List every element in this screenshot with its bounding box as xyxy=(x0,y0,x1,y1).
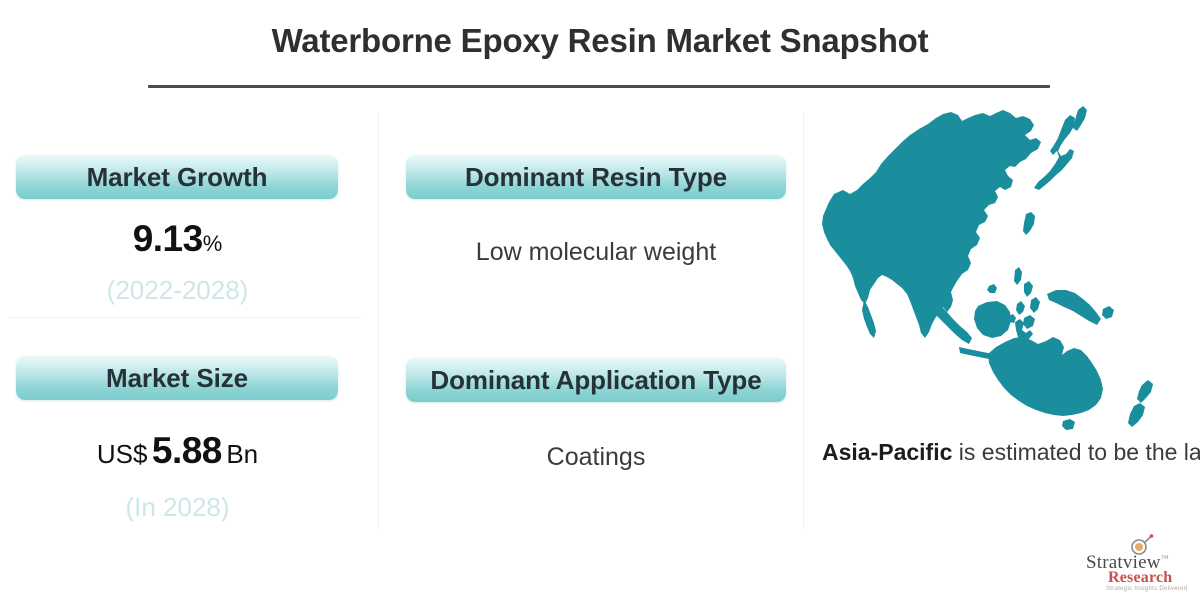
badge-dominant-resin-type: Dominant Resin Type xyxy=(406,155,786,199)
horizontal-divider-left-column xyxy=(8,317,363,318)
badge-market-size: Market Size xyxy=(16,356,338,400)
infographic-root: Waterborne Epoxy Resin Market Snapshot M… xyxy=(0,0,1200,600)
market-size-value: US$ 5.88 Bn xyxy=(0,430,355,472)
stratview-research-logo: Stratview™ Research Strategic Insights D… xyxy=(1086,536,1198,594)
title-underline-rule xyxy=(148,85,1050,88)
currency-prefix: US$ xyxy=(97,439,148,469)
market-growth-period: (2022-2028) xyxy=(0,275,355,306)
page-title-block: Waterborne Epoxy Resin Market Snapshot xyxy=(0,22,1200,60)
badge-market-growth: Market Growth xyxy=(16,155,338,199)
market-growth-value: 9.13% xyxy=(0,218,355,260)
badge-dominant-application-type: Dominant Application Type xyxy=(406,358,786,402)
badge-dominant-application-type-label: Dominant Application Type xyxy=(430,365,761,396)
region-note-text: is estimated to be the largest market du… xyxy=(952,439,1200,465)
page-title: Waterborne Epoxy Resin Market Snapshot xyxy=(0,22,1200,60)
logo-tagline: Strategic Insights Delivered xyxy=(1106,586,1200,592)
vertical-divider-right xyxy=(803,112,804,530)
market-size-unit: Bn xyxy=(226,439,258,469)
logo-wordmark-secondary: Research xyxy=(1108,569,1200,587)
badge-dominant-resin-type-label: Dominant Resin Type xyxy=(465,162,727,193)
asia-pacific-map-icon xyxy=(812,104,1200,434)
badge-market-size-label: Market Size xyxy=(106,363,248,394)
market-size-period: (In 2028) xyxy=(0,492,355,523)
region-note: Asia-Pacific is estimated to be the larg… xyxy=(822,437,1200,467)
percent-symbol: % xyxy=(203,231,223,256)
region-note-region: Asia-Pacific xyxy=(822,439,952,465)
dominant-resin-type-value: Low molecular weight xyxy=(390,238,802,267)
badge-market-growth-label: Market Growth xyxy=(87,162,268,193)
market-growth-number: 9.13 xyxy=(133,218,203,259)
vertical-divider-left xyxy=(378,112,379,530)
dominant-application-type-value: Coatings xyxy=(390,443,802,472)
market-size-number: 5.88 xyxy=(152,430,222,471)
logo-trademark-icon: ™ xyxy=(1161,554,1169,563)
